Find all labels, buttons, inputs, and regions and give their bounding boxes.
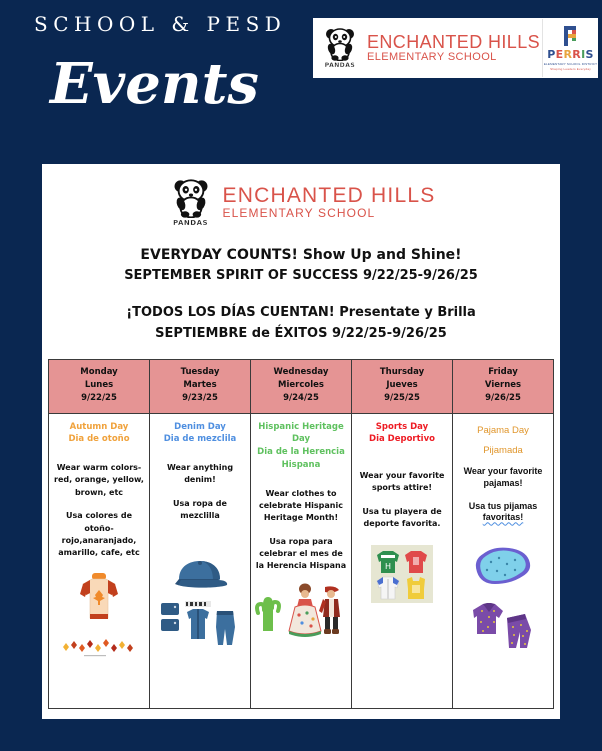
cell-monday: Autumn Day Dia de otoño Wear warm colors… — [49, 413, 150, 708]
theme-es: Dia de la Herencia Hispana — [254, 446, 348, 472]
spirit-week-schedule-table: Monday Lunes 9/22/25 Tuesday Martes 9/23… — [48, 359, 554, 709]
school-name-line1: ENCHANTED HILLS — [367, 33, 540, 52]
cell-thursday: Sports Day Dia Deportivo Wear your favor… — [352, 413, 453, 708]
banner-subtitle: SCHOOL & PESD — [34, 12, 286, 36]
school-name-line2: ELEMENTARY SCHOOL — [367, 52, 540, 64]
perris-district-logo: PERRIS ELEMENTARY SCHOOL DISTRICT Shapin… — [542, 19, 598, 77]
district-subtitle-2: Shaping Leaders Everyday — [550, 67, 591, 71]
message-spanish-line2: SEPTIEMBRE de ÉXITOS 9/22/25-9/26/25 — [62, 326, 540, 341]
body-es-prefix: Usa tus pijamas — [469, 501, 538, 511]
theme-en: Sports Day — [355, 421, 449, 434]
header-date: 9/23/25 — [152, 392, 248, 405]
header-logo-strip: PANDAS ENCHANTED HILLS ELEMENTARY SCHOOL… — [313, 18, 598, 78]
pajama-set-icon — [469, 600, 537, 654]
header-day-es: Miercoles — [253, 379, 349, 392]
theme-title-tuesday: Denim Day Dia de mezclila — [153, 421, 247, 447]
panda-mascot-icon: PANDAS — [319, 27, 361, 69]
theme-title-wednesday: Hispanic Heritage Day Dia de la Herencia… — [254, 421, 348, 472]
body-es: Usa ropa para celebrar el mes de la Here… — [254, 536, 348, 573]
column-header-thursday: Thursday Jueves 9/25/25 — [352, 360, 453, 414]
cell-tuesday: Denim Day Dia de mezclila Wear anything … — [150, 413, 251, 708]
theme-es: Pijamada — [456, 441, 550, 462]
theme-en: Hispanic Heritage Day — [254, 421, 348, 447]
message-english-line2: SEPTEMBER SPIRIT OF SUCCESS 9/22/25-9/26… — [62, 268, 540, 283]
header-day-en: Thursday — [354, 366, 450, 379]
header-day-es: Lunes — [51, 379, 147, 392]
header-day-en: Friday — [455, 366, 551, 379]
cell-friday: Pajama Day Pijamada Wear your favorite p… — [453, 413, 554, 708]
body-en: Wear your favorite pajamas! — [456, 466, 550, 489]
autumn-leaves-icon — [58, 636, 140, 658]
theme-body-monday: Wear warm colors-red, orange, yellow, br… — [52, 462, 146, 560]
message-spanish-line1: ¡TODOS LOS DÍAS CUENTAN! Presentate y Br… — [62, 305, 540, 320]
theme-body-tuesday: Wear anything denim! Usa ropa de mezclil… — [153, 462, 247, 523]
header-date: 9/25/25 — [354, 392, 450, 405]
flyer-message-block: EVERYDAY COUNTS! Show Up and Shine! SEPT… — [42, 247, 560, 341]
theme-es: Dia de mezclila — [153, 433, 247, 446]
theme-en: Autumn Day — [52, 421, 146, 434]
district-p-icon — [561, 25, 581, 47]
theme-title-friday: Pajama Day Pijamada — [456, 421, 550, 463]
body-en: Wear clothes to celebrate Hispanic Herit… — [254, 488, 348, 525]
header-day-es: Jueves — [354, 379, 450, 392]
school-logo: PANDAS ENCHANTED HILLS ELEMENTARY SCHOOL — [313, 18, 542, 78]
body-en: Wear warm colors-red, orange, yellow, br… — [52, 462, 146, 499]
pajama-top-icon — [471, 542, 535, 592]
denim-clothes-icon — [159, 599, 241, 651]
header-day-en: Monday — [51, 366, 147, 379]
header-day-es: Viernes — [455, 379, 551, 392]
flyer-panda-mascot-icon: PANDAS — [167, 178, 215, 227]
header-date: 9/26/25 — [455, 392, 551, 405]
pajamas-icon — [456, 542, 550, 654]
column-header-monday: Monday Lunes 9/22/25 — [49, 360, 150, 414]
autumn-sweater-icon — [52, 570, 146, 658]
body-es-misspelled: favoritas! — [483, 512, 524, 522]
flyer-school-logo: PANDAS ENCHANTED HILLS ELEMENTARY SCHOOL — [42, 164, 560, 227]
svg-text:H: H — [385, 562, 391, 571]
body-es: Usa tus pijamas favoritas! — [456, 501, 550, 524]
header-date: 9/22/25 — [51, 392, 147, 405]
school-name-block: ENCHANTED HILLS ELEMENTARY SCHOOL — [367, 33, 540, 63]
body-es: Usa colores de otoño-rojo,anaranjado, am… — [52, 510, 146, 560]
cell-wednesday: Hispanic Heritage Day Dia de la Herencia… — [251, 413, 352, 708]
district-subtitle-1: ELEMENTARY SCHOOL DISTRICT — [544, 62, 597, 66]
theme-en: Pajama Day — [456, 421, 550, 442]
message-english-line1: EVERYDAY COUNTS! Show Up and Shine! — [62, 247, 540, 263]
header-day-es: Martes — [152, 379, 248, 392]
schedule-table-wrapper: Monday Lunes 9/22/25 Tuesday Martes 9/23… — [42, 359, 560, 709]
theme-en: Denim Day — [153, 421, 247, 434]
body-es: Usa tu playera de deporte favorita. — [355, 506, 449, 531]
theme-es: Dia de otoño — [52, 433, 146, 446]
theme-body-wednesday: Wear clothes to celebrate Hispanic Herit… — [254, 488, 348, 573]
column-header-friday: Friday Viernes 9/26/25 — [453, 360, 554, 414]
denim-art-group — [153, 557, 247, 651]
body-en: Wear your favorite sports attire! — [355, 470, 449, 495]
column-header-tuesday: Tuesday Martes 9/23/25 — [150, 360, 251, 414]
body-es: Usa ropa de mezclilla — [153, 498, 247, 523]
flyer-body: PANDAS ENCHANTED HILLS ELEMENTARY SCHOOL… — [42, 164, 560, 719]
theme-body-friday: Wear your favorite pajamas! Usa tus pija… — [456, 466, 550, 524]
folklorico-dancers-icon — [254, 577, 348, 639]
theme-title-monday: Autumn Day Dia de otoño — [52, 421, 146, 447]
header-date: 9/24/25 — [253, 392, 349, 405]
flyer-school-name-line1: ENCHANTED HILLS — [223, 185, 436, 207]
flyer-school-name-block: ENCHANTED HILLS ELEMENTARY SCHOOL — [223, 185, 436, 220]
header-day-en: Wednesday — [253, 366, 349, 379]
body-en: Wear anything denim! — [153, 462, 247, 487]
sports-jerseys-icon: H — [355, 545, 449, 603]
page-title: Events — [50, 56, 259, 112]
header-day-en: Tuesday — [152, 366, 248, 379]
district-wordmark: PERRIS — [547, 48, 593, 61]
mascot-wordmark: PANDAS — [325, 62, 355, 69]
table-header-row: Monday Lunes 9/22/25 Tuesday Martes 9/23… — [49, 360, 554, 414]
table-row: Autumn Day Dia de otoño Wear warm colors… — [49, 413, 554, 708]
flyer-mascot-wordmark: PANDAS — [173, 219, 208, 227]
theme-body-thursday: Wear your favorite sports attire! Usa tu… — [355, 470, 449, 531]
flyer-page: SCHOOL & PESD Events — [0, 0, 602, 751]
column-header-wednesday: Wednesday Miercoles 9/24/25 — [251, 360, 352, 414]
theme-es: Dia Deportivo — [355, 433, 449, 446]
denim-cap-icon — [169, 557, 231, 591]
flyer-school-name-line2: ELEMENTARY SCHOOL — [223, 207, 436, 220]
theme-title-thursday: Sports Day Dia Deportivo — [355, 421, 449, 447]
